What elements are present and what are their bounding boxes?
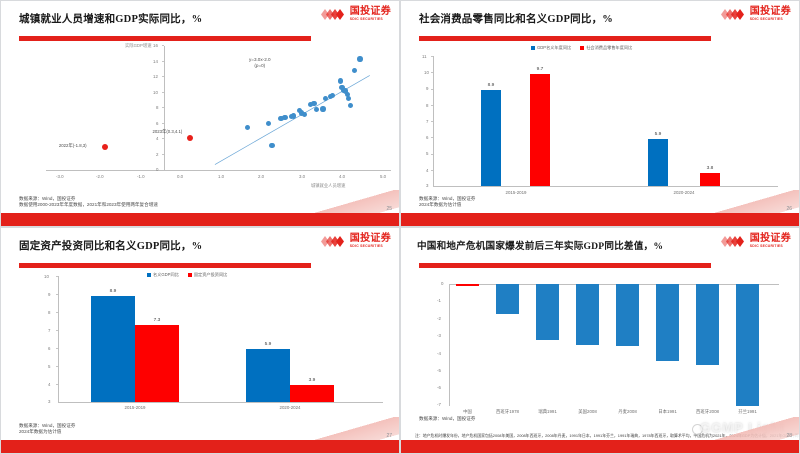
bar-丹麦2008 (616, 284, 639, 346)
bar-chart-negative: 0 -1 -2 -3 -4 -5 -6 -7 中国西班牙1978瑞典1991美国… (401, 278, 800, 418)
x-axis-line (46, 170, 391, 171)
bar-西班牙1978 (496, 284, 519, 314)
y-tick-label: 12 (153, 74, 158, 79)
page-number: 27 (386, 433, 392, 439)
y-tick-label: 8 (426, 103, 428, 108)
y-tick-label: 14 (153, 59, 158, 64)
y-tick (431, 137, 433, 138)
y-tick (162, 154, 164, 155)
logo-diamond-icon (721, 8, 747, 21)
y-tick-label: 6 (48, 346, 50, 351)
y-tick-label: -1 (437, 298, 441, 303)
page-title: 社会消费品零售同比和名义GDP同比，% (419, 11, 613, 26)
scatter-point (302, 112, 307, 117)
slide-retail-gdp: 社会消费品零售同比和名义GDP同比，% 国投证券 SDIC SECURITIES… (400, 0, 800, 227)
y-axis-line (164, 46, 165, 170)
category-label: 芬兰1991 (728, 409, 767, 415)
y-tick (431, 121, 433, 122)
trendline (1, 43, 400, 183)
y-tick-label: 5 (426, 151, 428, 156)
scatter-point-label: 2022年(-1.8,3) (59, 143, 87, 149)
y-tick (56, 366, 58, 367)
y-tick-label: 4 (48, 382, 50, 387)
y-tick (431, 56, 433, 57)
slide-employment-gdp: 城镇就业人员增速和GDP实际同比，% 国投证券 SDIC SECURITIES (0, 0, 400, 227)
category-label: 日本1991 (648, 409, 687, 415)
y-tick-label: 10 (424, 70, 429, 75)
footer-band (401, 440, 799, 453)
y-axis-line (433, 56, 434, 186)
brand-logo: 国投证券 SDIC SECURITIES (321, 234, 391, 248)
y-tick-label: 4 (426, 168, 428, 173)
source-line-2: 数据使用2000-2023年年度数据，2021年和2023年使用两年复合增速 (19, 201, 158, 208)
brand-logo: 国投证券 SDIC SECURITIES (721, 234, 791, 248)
logo-text-cn: 国投证券 (350, 7, 391, 17)
y-axis-line (449, 284, 450, 406)
bar-chart: 10 9 8 7 6 5 4 3 8.9 7.3 2015-2019 5.9 (1, 274, 400, 414)
bar-value-label: 3.9 (290, 378, 334, 383)
chart-legend: GDP名义年度同比 社会消费品零售年度同比 (531, 45, 632, 51)
y-tick (162, 76, 164, 77)
bar-value-label: 3.8 (700, 166, 720, 171)
bar-fai-2015-2019 (135, 325, 179, 402)
scatter-point (282, 115, 287, 120)
y-tick (431, 105, 433, 106)
x-tick-label: 1.0 (218, 174, 224, 179)
y-tick (162, 45, 164, 46)
bar-retail-2015-2019 (530, 74, 550, 186)
bar-瑞典1991 (536, 284, 559, 340)
x-tick-label: 4.0 (339, 174, 345, 179)
scatter-point (266, 121, 271, 126)
title-rule (19, 36, 311, 41)
slide-property-crisis: 中国和地产危机国家爆发前后三年实际GDP同比差值，% 国投证券 SDIC SEC… (400, 227, 800, 454)
bar-value-label: 7.3 (135, 318, 179, 323)
y-tick-label: 10 (153, 90, 158, 95)
slide-deck: 城镇就业人员增速和GDP实际同比，% 国投证券 SDIC SECURITIES (0, 0, 800, 454)
scatter-point-label: 2023年(0.3,4.1) (152, 129, 182, 135)
x-axis-line (58, 402, 383, 403)
page-title: 中国和地产危机国家爆发前后三年实际GDP同比差值，% (417, 238, 663, 252)
y-tick (431, 72, 433, 73)
y-tick (431, 154, 433, 155)
bar-value-label: 9.7 (530, 67, 550, 72)
y-tick-label: 8 (48, 310, 50, 315)
y-tick-label: -3 (437, 333, 441, 338)
y-tick-label: 0 (156, 167, 158, 172)
legend-swatch-red (580, 46, 584, 50)
footer-band (1, 440, 399, 453)
logo-text-cn: 国投证券 (350, 234, 391, 244)
category-label: 丹麦2008 (608, 409, 647, 415)
x-tick-label: -2.0 (96, 174, 104, 179)
y-tick-label: -7 (437, 402, 441, 407)
y-tick-label: 8 (156, 105, 158, 110)
logo-text-cn: 国投证券 (750, 234, 791, 244)
scatter-point (311, 101, 316, 106)
bar-西班牙2008 (696, 284, 719, 365)
bar-value-label: 8.9 (481, 83, 501, 88)
y-tick-label: 0 (441, 281, 443, 286)
y-tick (162, 107, 164, 108)
scatter-point (245, 125, 250, 130)
category-label: 美国2008 (568, 409, 607, 415)
y-tick (162, 123, 164, 124)
x-axis-title: 城镇就业人员增速 (311, 183, 345, 189)
footer-band (401, 213, 799, 226)
bar-芬兰1991 (736, 284, 759, 406)
category-label: 2020-2024 (260, 405, 320, 410)
y-tick (56, 276, 58, 277)
bar-中国 (456, 284, 479, 286)
slide-fai-gdp: 固定资产投资同比和名义GDP同比，% 国投证券 SDIC SECURITIES … (0, 227, 400, 454)
x-tick-label: 5.0 (380, 174, 386, 179)
y-tick-label: -2 (437, 316, 441, 321)
legend-label: GDP名义年度同比 (537, 45, 571, 51)
y-axis-line (58, 276, 59, 402)
y-tick-label: 16 (153, 43, 158, 48)
y-tick (56, 348, 58, 349)
y-tick (56, 294, 58, 295)
page-number: 28 (786, 433, 792, 439)
category-label: 2015-2019 (486, 190, 546, 195)
scatter-point (314, 107, 319, 112)
logo-text-en: SDIC SECURITIES (350, 245, 391, 248)
legend-item-retail: 社会消费品零售年度同比 (580, 45, 632, 51)
category-label: 西班牙2008 (688, 409, 727, 415)
bar-chart: 11 10 9 8 7 6 5 4 3 8.9 9.7 2015-2019 (401, 56, 800, 196)
scatter-point (352, 68, 357, 73)
bar-gdp-2020-2024 (648, 139, 668, 187)
source-line-2: 2024年数据为估计值 (419, 201, 461, 208)
regression-equation: y=3.0x-2.0 (249, 57, 271, 62)
title-rule (419, 263, 711, 268)
y-tick-label: 7 (426, 119, 428, 124)
source-line-1: 数据来源：Wind，国投证券 (419, 415, 475, 422)
y-tick-label: 3 (48, 399, 50, 404)
scatter-chart: 实际GDP增速 城镇就业人员增速 16 14 12 10 8 6 4 2 0 -… (1, 43, 400, 183)
bar-美国2008 (576, 284, 599, 345)
y-tick-label: 9 (48, 292, 50, 297)
bar-fai-2020-2024 (290, 385, 334, 402)
page-title: 城镇就业人员增速和GDP实际同比，% (19, 11, 202, 26)
y-tick-label: 10 (44, 274, 49, 279)
scatter-point (330, 93, 335, 98)
y-tick (162, 138, 164, 139)
title-rule (419, 36, 711, 41)
bar-gdp-2020-2024 (246, 349, 290, 402)
scatter-point (338, 78, 343, 83)
brand-logo: 国投证券 SDIC SECURITIES (321, 7, 391, 21)
source-line-2: 2024年数据为估计值 (19, 428, 61, 435)
y-tick-label: -5 (437, 368, 441, 373)
bar-gdp-2015-2019 (91, 296, 135, 402)
x-tick-label: -3.0 (56, 174, 64, 179)
logo-text-en: SDIC SECURITIES (750, 18, 791, 21)
category-label: 西班牙1978 (488, 409, 527, 415)
scatter-point (291, 113, 296, 118)
logo-text-en: SDIC SECURITIES (750, 245, 791, 248)
brand-logo: 国投证券 SDIC SECURITIES (721, 7, 791, 21)
x-axis-line (433, 186, 778, 187)
x-tick-label: 3.0 (299, 174, 305, 179)
logo-text-cn: 国投证券 (750, 7, 791, 17)
footer-band (1, 213, 399, 226)
category-label: 2015-2019 (105, 405, 165, 410)
y-tick (56, 384, 58, 385)
legend-label: 社会消费品零售年度同比 (586, 45, 632, 51)
scatter-point-highlight (187, 135, 193, 141)
scatter-point (269, 143, 274, 148)
legend-swatch-blue (531, 46, 535, 50)
page-number: 25 (386, 206, 392, 212)
x-tick-label: -1.0 (137, 174, 145, 179)
y-tick (162, 92, 164, 93)
y-tick-label: 2 (156, 152, 158, 157)
page-title: 固定资产投资同比和名义GDP同比，% (19, 238, 202, 253)
y-tick (431, 89, 433, 90)
y-tick (56, 330, 58, 331)
y-tick (162, 61, 164, 62)
bar-value-label: 8.9 (91, 289, 135, 294)
title-rule (19, 263, 311, 268)
bar-value-label: 5.9 (648, 132, 668, 137)
y-tick-label: 5 (48, 364, 50, 369)
x-tick-label: 2.0 (258, 174, 264, 179)
y-tick-label: -4 (437, 351, 441, 356)
scatter-point (348, 103, 353, 108)
y-tick (56, 312, 58, 313)
bar-日本1991 (656, 284, 679, 361)
logo-text-en: SDIC SECURITIES (350, 18, 391, 21)
legend-item-gdp: GDP名义年度同比 (531, 45, 571, 51)
y-tick (431, 170, 433, 171)
y-tick-label: 9 (426, 86, 428, 91)
y-tick-label: 6 (426, 135, 428, 140)
scatter-point (357, 56, 362, 61)
y-axis-title: 实际GDP增速 (125, 43, 152, 49)
scatter-point-highlight (102, 144, 108, 150)
regression-pvalue: (p=0) (254, 63, 265, 68)
category-label: 瑞典1991 (528, 409, 567, 415)
y-tick-label: -6 (437, 385, 441, 390)
y-tick-label: 4 (156, 136, 158, 141)
bar-gdp-2015-2019 (481, 90, 501, 186)
y-tick-label: 3 (426, 183, 428, 188)
x-tick-label: 0.0 (177, 174, 183, 179)
y-tick-label: 7 (48, 328, 50, 333)
bar-retail-2020-2024 (700, 173, 720, 186)
bar-value-label: 5.9 (246, 342, 290, 347)
scatter-point (346, 96, 351, 101)
y-tick-label: 11 (422, 54, 427, 59)
logo-diamond-icon (721, 235, 747, 248)
scatter-point (320, 106, 325, 111)
logo-diamond-icon (321, 235, 347, 248)
y-tick-label: 6 (156, 121, 158, 126)
regression-annotation: y=3.0x-2.0 (p=0) (249, 57, 271, 69)
logo-diamond-icon (321, 8, 347, 21)
page-number: 26 (786, 206, 792, 212)
